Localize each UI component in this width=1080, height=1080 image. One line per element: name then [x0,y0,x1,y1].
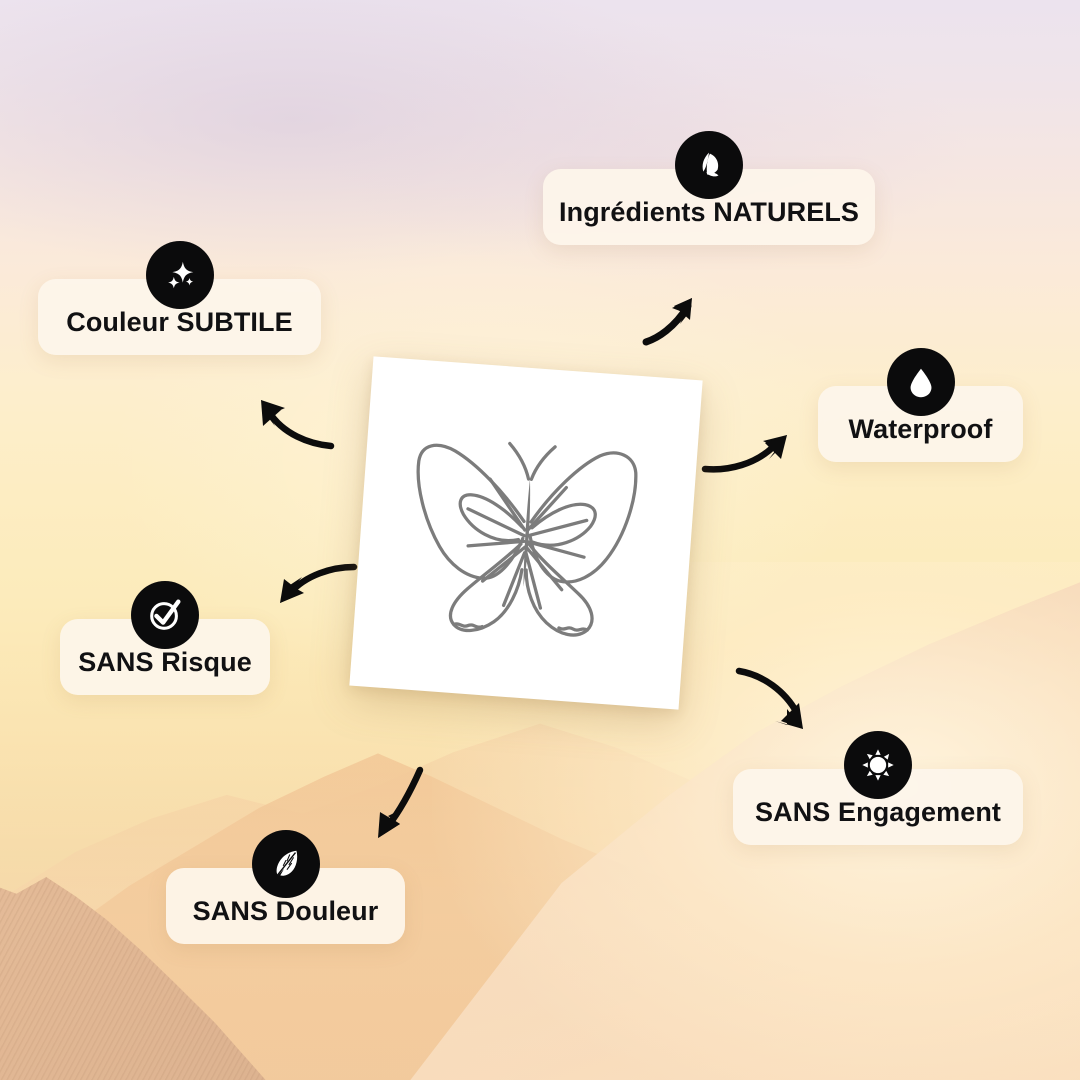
badge-label: Couleur SUBTILE [66,309,293,336]
badge-sans-engagement[interactable]: SANS Engagement [733,769,1023,845]
arrow-to-couleur [247,396,333,450]
sun-icon [844,731,912,799]
badge-label: Waterproof [849,416,993,443]
water-drop-icon [887,348,955,416]
badge-label: SANS Risque [78,649,252,676]
check-circle-icon [131,581,199,649]
arrow-to-risque [272,563,356,611]
product-card-butterfly-tattoo[interactable] [349,356,702,709]
badge-label: SANS Douleur [193,898,379,925]
arrow-to-engagement [737,665,813,743]
badge-label: SANS Engagement [755,799,1001,826]
badge-label: Ingrédients NATURELS [559,199,859,226]
butterfly-line-art [374,381,678,685]
leaf-icon [675,131,743,199]
arrow-to-waterproof [703,427,795,475]
badge-sans-risque[interactable]: SANS Risque [60,619,270,695]
infographic-canvas: Ingrédients NATURELS Couleur SUBTILE Wat… [0,0,1080,1080]
badge-ingredients-naturels[interactable]: Ingrédients NATURELS [543,169,875,245]
badge-waterproof[interactable]: Waterproof [818,386,1023,462]
sparkles-icon [146,241,214,309]
arrow-to-ingredients [644,284,714,344]
feather-icon [252,830,320,898]
badge-couleur-subtile[interactable]: Couleur SUBTILE [38,279,321,355]
badge-sans-douleur[interactable]: SANS Douleur [166,868,405,944]
arrow-to-douleur [366,768,424,844]
